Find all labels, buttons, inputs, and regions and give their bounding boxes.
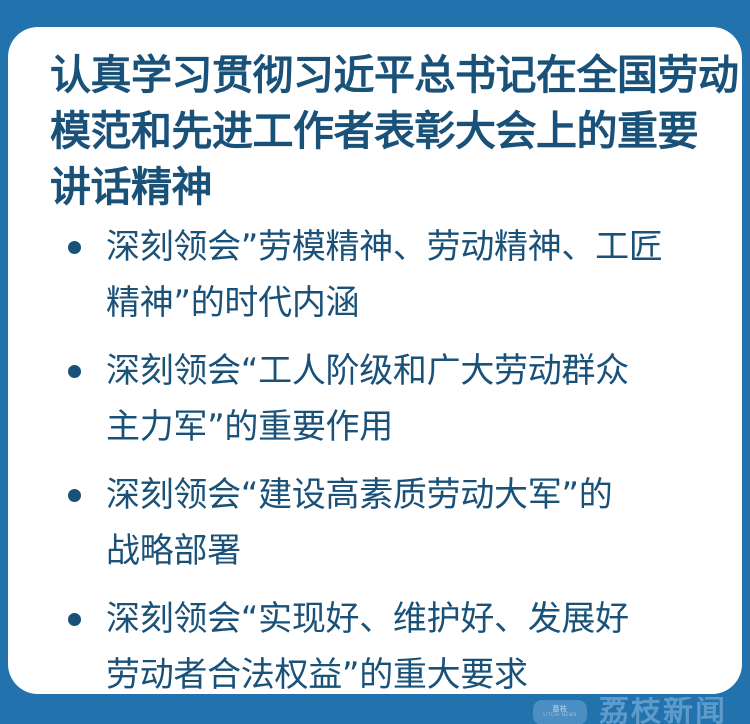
watermark: 荔枝 LITCHI NEWS 荔枝新闻 [533, 697, 727, 724]
list-item-line: 深刻领会“工人阶级和广大劳动群众 [106, 343, 730, 399]
list-item: 深刻领会“工人阶级和广大劳动群众 主力军”的重要作用 [50, 343, 730, 455]
litchi-news-logo-icon: 荔枝 LITCHI NEWS [533, 700, 587, 724]
bullet-dot-icon [68, 241, 81, 254]
page-title-line: 讲话精神 [50, 159, 710, 215]
page-title: 认真学习贯彻习近平总书记在全国劳动 模范和先进工作者表彰大会上的重要 讲话精神 [50, 47, 710, 215]
list-item: 深刻领会“实现好、维护好、发展好 劳动者合法权益”的重大要求 [50, 591, 730, 694]
list-item-line: 精神”的时代内涵 [106, 275, 730, 331]
list-item-line: 劳动者合法权益”的重大要求 [106, 647, 730, 694]
list-item-line: 深刻领会“建设高素质劳动大军”的 [106, 467, 730, 523]
list-item-line: 深刻领会”劳模精神、劳动精神、工匠 [106, 219, 730, 275]
content-card: 认真学习贯彻习近平总书记在全国劳动 模范和先进工作者表彰大会上的重要 讲话精神 … [8, 27, 742, 694]
list-item-line: 战略部署 [106, 523, 730, 579]
list-item: 深刻领会”劳模精神、劳动精神、工匠 精神”的时代内涵 [50, 219, 730, 331]
poster-root: 认真学习贯彻习近平总书记在全国劳动 模范和先进工作者表彰大会上的重要 讲话精神 … [0, 0, 750, 724]
bullet-dot-icon [68, 489, 81, 502]
bullet-dot-icon [68, 365, 81, 378]
bullet-list: 深刻领会”劳模精神、劳动精神、工匠 精神”的时代内涵 深刻领会“工人阶级和广大劳… [50, 219, 730, 694]
logo-cn-text: 荔枝 [553, 706, 568, 713]
bullet-dot-icon [68, 613, 81, 626]
list-item-line: 深刻领会“实现好、维护好、发展好 [106, 591, 730, 647]
logo-en-text: LITCHI NEWS [543, 714, 577, 719]
page-title-line: 认真学习贯彻习近平总书记在全国劳动 [50, 47, 710, 103]
page-title-line: 模范和先进工作者表彰大会上的重要 [50, 103, 710, 159]
list-item-line: 主力军”的重要作用 [106, 399, 730, 455]
list-item: 深刻领会“建设高素质劳动大军”的 战略部署 [50, 467, 730, 579]
watermark-brand-text: 荔枝新闻 [599, 697, 727, 724]
